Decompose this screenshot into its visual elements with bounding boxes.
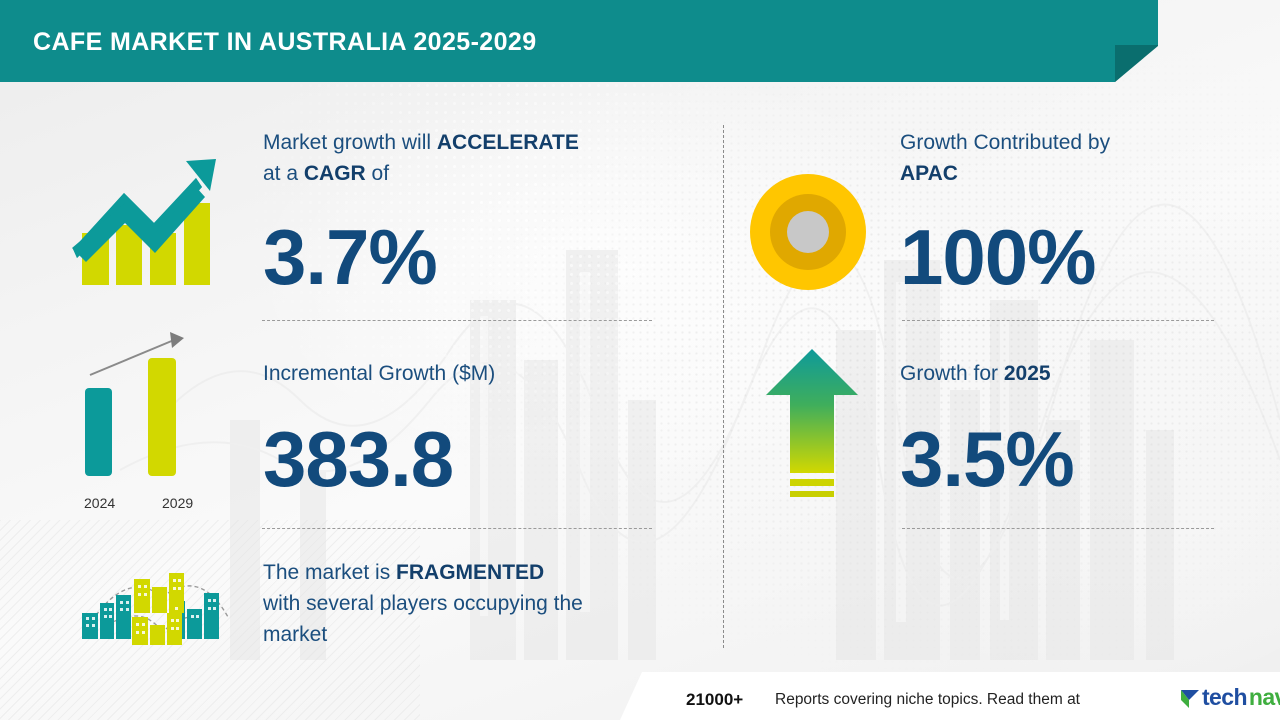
column-divider — [723, 125, 724, 648]
fragmentation-caption-bold: FRAGMENTED — [396, 561, 544, 584]
footer-tagline: Reports covering niche topics. Read them… — [775, 691, 1080, 709]
divider-right-1 — [902, 320, 1214, 321]
divider-left-1 — [262, 320, 652, 321]
growth-2025-caption-part1: Growth for — [900, 362, 1004, 385]
fragmentation-caption-line3: market — [263, 623, 327, 646]
growth-2025-caption-bold: 2025 — [1004, 362, 1051, 385]
apac-caption-bold: APAC — [900, 162, 958, 185]
growth-2025-caption: Growth for 2025 — [900, 358, 1210, 389]
page-title: CAFE MARKET IN AUSTRALIA 2025-2029 — [33, 28, 537, 57]
fragmentation-caption: The market is FRAGMENTED with several pl… — [263, 557, 683, 650]
cagr-caption-line2-part2: of — [366, 162, 389, 185]
donut-chart-icon — [748, 172, 868, 292]
technavio-mark-icon — [1180, 687, 1200, 709]
divider-left-2 — [262, 528, 652, 529]
cagr-caption-line2-part1: at a — [263, 162, 304, 185]
apac-caption: Growth Contributed by APAC — [900, 127, 1210, 189]
cagr-caption-bold: ACCELERATE — [437, 131, 579, 154]
logo-text-tech: tech — [1202, 686, 1247, 709]
cagr-caption-part1: Market growth will — [263, 131, 437, 154]
logo-text-navio: navio — [1249, 686, 1280, 709]
growth-2025-value: 3.5% — [900, 420, 1074, 498]
growth-arrow-chart-icon — [68, 145, 223, 290]
cagr-caption-line2-bold: CAGR — [304, 162, 366, 185]
incremental-growth-caption: Incremental Growth ($M) — [263, 358, 673, 389]
fragmented-market-icon — [68, 555, 248, 650]
incremental-growth-value: 383.8 — [263, 420, 453, 498]
apac-caption-line1: Growth Contributed by — [900, 131, 1110, 154]
fragmentation-caption-part1: The market is — [263, 561, 396, 584]
technavio-logo[interactable]: technavio™ — [1180, 686, 1280, 709]
infographic-canvas: CAFE MARKET IN AUSTRALIA 2025-2029 Marke… — [0, 0, 1280, 720]
up-arrow-icon — [762, 345, 862, 510]
apac-value: 100% — [900, 218, 1096, 296]
footer-report-count: 21000+ — [686, 690, 743, 710]
bar-comparison-icon — [68, 330, 228, 490]
divider-right-2 — [902, 528, 1214, 529]
cagr-caption: Market growth will ACCELERATE at a CAGR … — [263, 127, 673, 189]
bar-label-2024: 2024 — [84, 495, 115, 511]
bar-label-2029: 2029 — [162, 495, 193, 511]
fragmentation-caption-line2: with several players occupying the — [263, 592, 583, 615]
cagr-value: 3.7% — [263, 218, 437, 296]
